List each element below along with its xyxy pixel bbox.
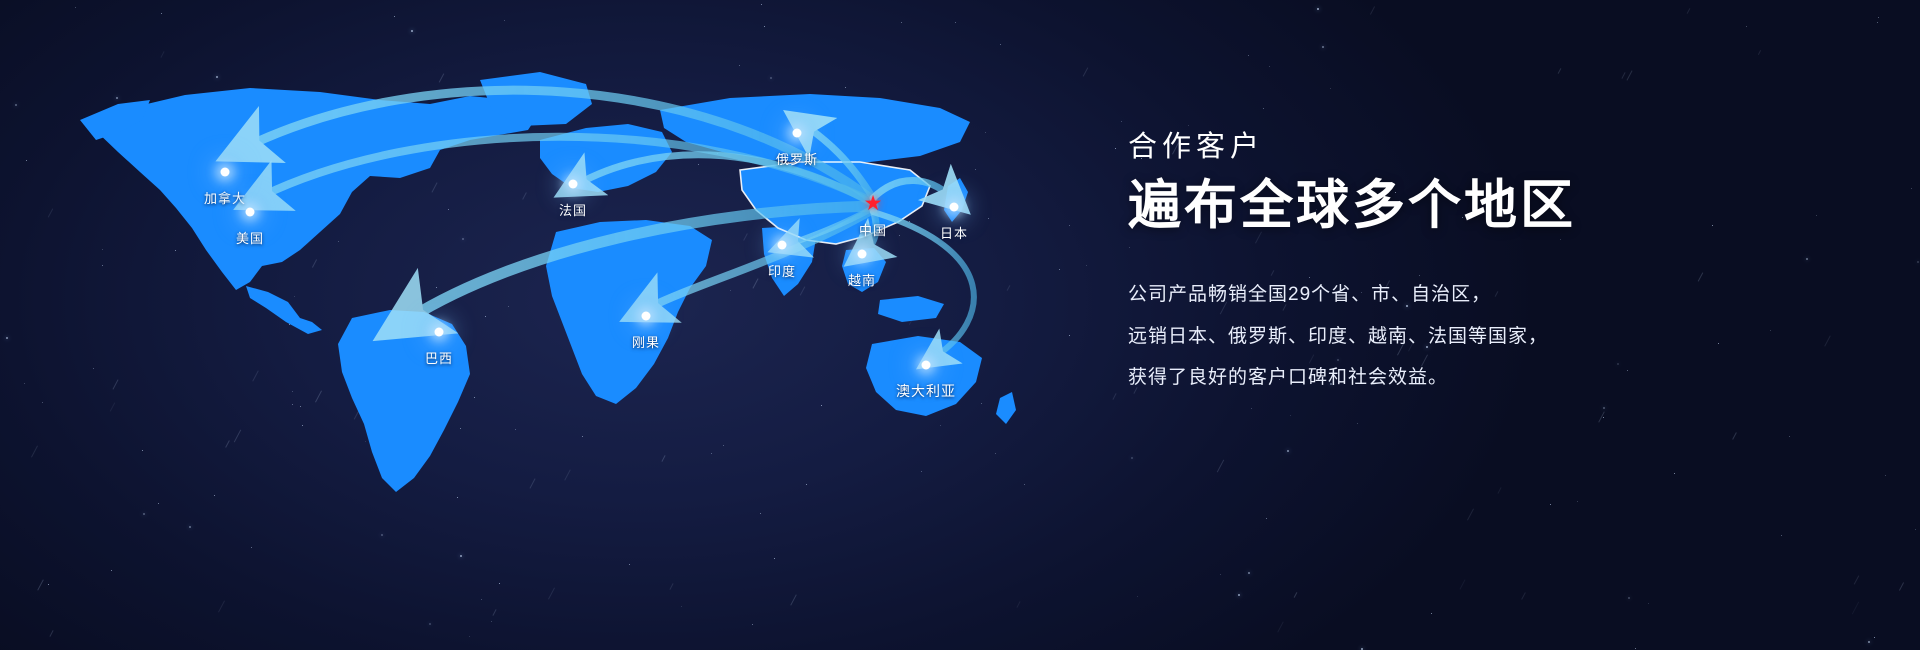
location-dot-icon	[642, 312, 651, 321]
map-marker-label: 中国	[859, 220, 887, 239]
map-marker-label: 美国	[236, 228, 264, 247]
map-marker-label: 日本	[940, 223, 968, 242]
location-dot-icon	[922, 361, 931, 370]
location-dot-icon	[569, 180, 578, 189]
page-title: 遍布全球多个地区	[1128, 175, 1828, 238]
location-dot-icon	[793, 129, 802, 138]
map-marker-label: 巴西	[425, 348, 453, 367]
location-dot-icon	[778, 241, 787, 250]
location-dot-icon	[246, 208, 255, 217]
description-line: 获得了良好的客户口碑和社会效益。	[1128, 364, 1828, 392]
map-marker-label: 印度	[768, 261, 796, 280]
map-marker-label: 越南	[848, 270, 876, 289]
location-dot-icon	[858, 250, 867, 259]
text-panel: 合作客户 遍布全球多个地区 公司产品畅销全国29个省、市、自治区，远销日本、俄罗…	[1128, 130, 1828, 406]
eyebrow-title: 合作客户	[1128, 130, 1828, 165]
location-dot-icon	[950, 203, 959, 212]
description-block: 公司产品畅销全国29个省、市、自治区，远销日本、俄罗斯、印度、越南、法国等国家，…	[1128, 281, 1828, 392]
map-marker-label: 刚果	[632, 332, 660, 351]
origin-star-icon: ★	[864, 193, 883, 214]
description-line: 远销日本、俄罗斯、印度、越南、法国等国家，	[1128, 323, 1828, 351]
map-marker-label: 法国	[559, 200, 587, 219]
world-map: 加拿大美国巴西法国俄罗斯刚果印度★中国日本越南澳大利亚	[0, 0, 1120, 650]
description-line: 公司产品畅销全国29个省、市、自治区，	[1128, 281, 1828, 309]
global-clients-banner: 加拿大美国巴西法国俄罗斯刚果印度★中国日本越南澳大利亚 合作客户 遍布全球多个地…	[0, 0, 1920, 650]
map-marker-label: 加拿大	[204, 188, 246, 207]
location-dot-icon	[435, 328, 444, 337]
map-marker-label: 澳大利亚	[896, 381, 956, 401]
world-map-svg	[0, 0, 1120, 650]
map-marker-label: 俄罗斯	[776, 149, 818, 168]
location-dot-icon	[221, 168, 230, 177]
